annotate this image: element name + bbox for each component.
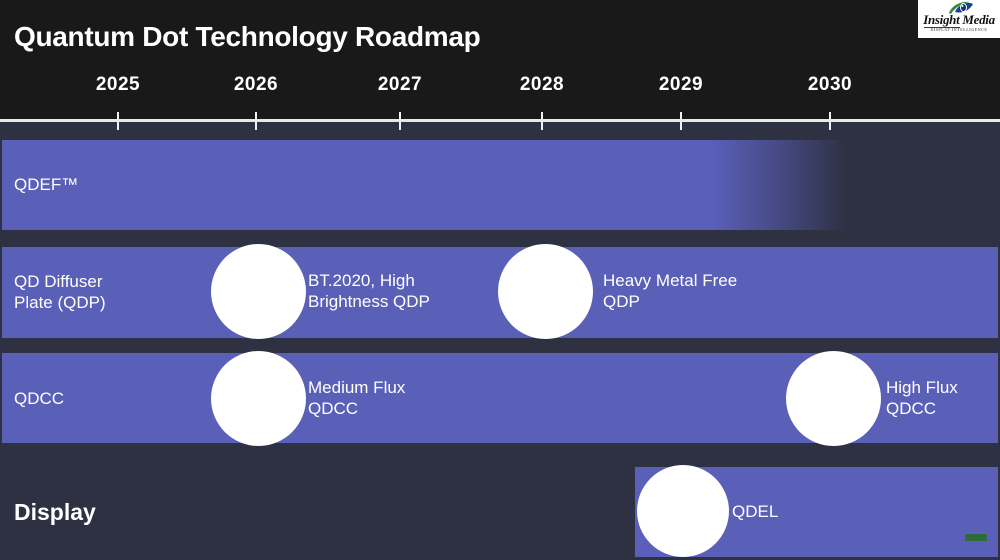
insight-media-logo: Insight Media DISPLAY INTELLIGENCE bbox=[918, 0, 1000, 38]
year-label-2029: 2029 bbox=[659, 74, 703, 96]
row-label-qdef: QDEF™ bbox=[14, 174, 78, 195]
year-label-2030: 2030 bbox=[808, 74, 852, 96]
page-title: Quantum Dot Technology Roadmap bbox=[14, 21, 480, 53]
milestone-label-medium-flux: Medium Flux QDCC bbox=[308, 377, 405, 419]
milestone-label-bt2020: BT.2020, High Brightness QDP bbox=[308, 270, 430, 312]
milestone-dot-medium-flux[interactable] bbox=[211, 351, 306, 446]
year-label-2025: 2025 bbox=[96, 74, 140, 96]
year-label-2027: 2027 bbox=[378, 74, 422, 96]
roadmap-slide: Quantum Dot Technology Roadmap 2025 2026… bbox=[0, 0, 1000, 560]
section-label-display: Display bbox=[14, 499, 96, 526]
roadmap-row-display: Display QDEL bbox=[2, 467, 998, 557]
milestone-dot-qdel[interactable] bbox=[637, 465, 729, 557]
header-bar: Quantum Dot Technology Roadmap 2025 2026… bbox=[0, 0, 1000, 120]
logo-wordmark: Insight Media bbox=[918, 12, 1000, 28]
roadmap-row-qdef: QDEF™ bbox=[2, 140, 998, 230]
status-badge bbox=[965, 534, 987, 541]
year-label-2026: 2026 bbox=[234, 74, 278, 96]
roadmap-row-qdcc: QDCC Medium Flux QDCC High Flux QDCC bbox=[2, 353, 998, 443]
milestone-dot-bt2020[interactable] bbox=[211, 244, 306, 339]
row-label-qdcc: QDCC bbox=[14, 388, 64, 409]
milestone-label-qdel: QDEL bbox=[732, 501, 778, 522]
logo-tagline: DISPLAY INTELLIGENCE bbox=[918, 27, 1000, 32]
roadmap-row-qdp: QD Diffuser Plate (QDP) BT.2020, High Br… bbox=[2, 247, 998, 338]
milestone-dot-high-flux[interactable] bbox=[786, 351, 881, 446]
row-label-qdp: QD Diffuser Plate (QDP) bbox=[14, 271, 106, 313]
timeline-axis-rule bbox=[0, 119, 1000, 122]
milestone-dot-heavy-metal-free[interactable] bbox=[498, 244, 593, 339]
track-bar-qdef bbox=[2, 140, 847, 230]
milestone-label-heavy-metal-free: Heavy Metal Free QDP bbox=[603, 270, 737, 312]
milestone-label-high-flux: High Flux QDCC bbox=[886, 377, 958, 419]
year-label-2028: 2028 bbox=[520, 74, 564, 96]
